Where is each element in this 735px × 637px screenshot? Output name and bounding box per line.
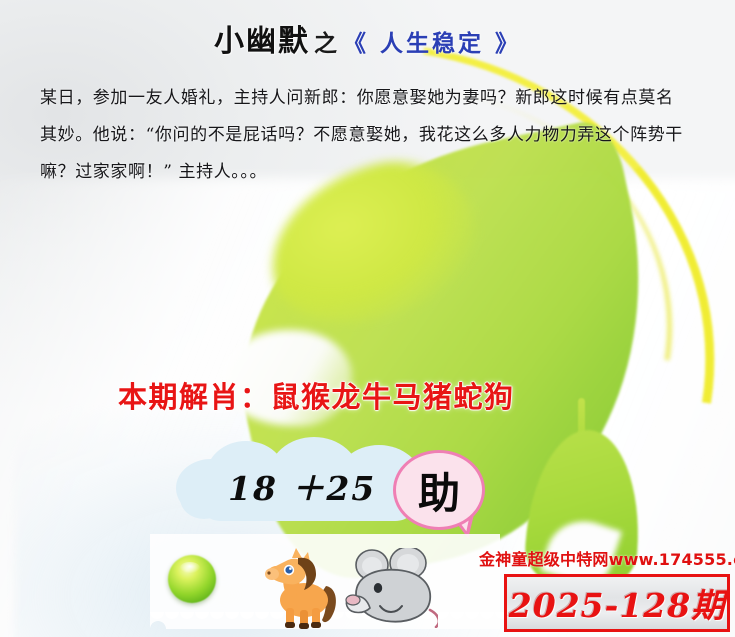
joke-body: 某日，参加一友人婚礼，主持人问新郎：你愿意娶她为妻吗？新郎这时候有点莫名 其妙。… [40, 80, 708, 191]
page-title: 小幽默之《 人生稳定 》 [0, 16, 735, 60]
joke-line: 某日，参加一友人婚礼，主持人问新郎：你愿意娶她为妻吗？新郎这时候有点莫名 [40, 80, 708, 117]
lottery-humor-poster: 小幽默之《 人生稳定 》 某日，参加一友人婚礼，主持人问新郎：你愿意娶她为妻吗？… [0, 0, 735, 637]
site-watermark: 金神童超级中特网www.174555.com [479, 546, 735, 570]
riddle-answer-text: 助 [393, 450, 485, 530]
title-main-text: 小幽默 [214, 24, 310, 59]
zodiac-forecast-text: 本期解肖：鼠猴龙牛马猪蛇狗 [118, 374, 515, 416]
joke-line: 嘛？过家家啊！” 主持人。。。 [40, 154, 708, 191]
issue-number-box: 2025-128期 [504, 574, 730, 632]
joke-line: 其妙。他说：“你问的不是屁话吗？不愿意娶她，我花这么多人力物力弄这个阵势干 [40, 117, 708, 154]
title-subtitle-text: 《 人生稳定 》 [343, 31, 521, 57]
green-pearl-gloss [180, 562, 200, 573]
title-connector-text: 之 [314, 31, 337, 57]
issue-number-text: 2025-128期 [509, 579, 725, 627]
cartoon-horse-icon [258, 548, 346, 632]
cartoon-mouse-icon [338, 548, 438, 628]
